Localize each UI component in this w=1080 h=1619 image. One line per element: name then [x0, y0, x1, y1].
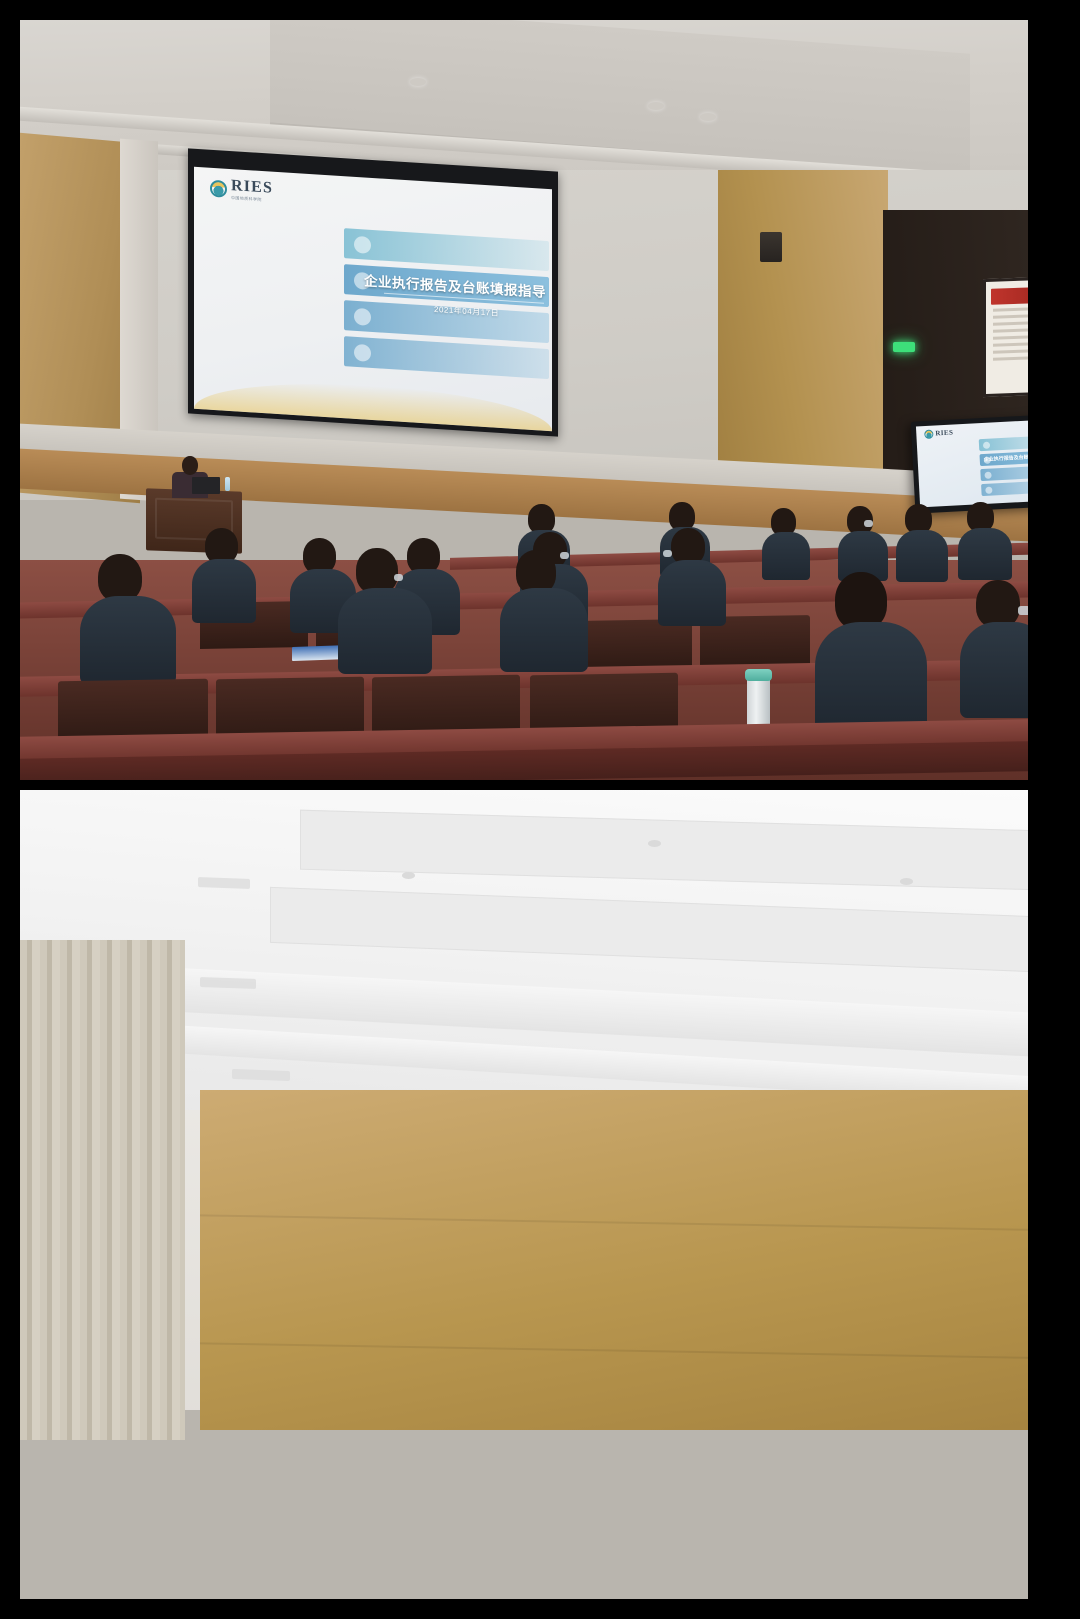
face-mask	[1018, 606, 1028, 615]
side-monitor: RIES 企业执行报告及台账填报指导	[911, 414, 1028, 513]
bullet-dot-icon	[983, 441, 990, 448]
poster-line	[993, 328, 1028, 332]
wall-poster	[983, 277, 1028, 397]
ceiling-vent	[232, 1069, 290, 1081]
wall-speaker-icon	[760, 232, 782, 262]
ceiling-vent	[200, 977, 256, 989]
monitor-bar	[979, 435, 1028, 451]
ceiling-downlight-icon	[900, 878, 913, 885]
ceiling-downlight-icon	[700, 113, 716, 121]
bullet-dot-icon	[984, 471, 991, 478]
face-mask	[663, 550, 672, 557]
bullet-dot-icon	[354, 343, 371, 361]
monitor-logo-text: RIES	[935, 430, 953, 438]
ceiling-downlight-icon	[410, 78, 426, 86]
poster-line	[993, 342, 1028, 346]
presenter-laptop	[192, 477, 220, 494]
logo-text: RIES	[231, 177, 273, 197]
slide-bar	[344, 336, 549, 379]
ceiling	[20, 20, 1028, 190]
poster-line	[993, 356, 1028, 360]
poster-line	[993, 321, 1028, 325]
projection-screen: RIES 中国地质科学院 企业执行报告及台账填报指导 2021年04月17日	[194, 167, 552, 432]
monitor-decoration-bars	[979, 435, 1028, 499]
poster-header	[991, 287, 1028, 305]
bullet-dot-icon	[354, 235, 371, 253]
ceiling-vent	[198, 877, 250, 889]
photo-composite-frame: RIES 中国地质科学院 企业执行报告及台账填报指导 2021年04月17日	[0, 0, 1080, 1619]
monitor-slide-logo: RIES	[924, 429, 953, 440]
ries-logo-icon	[210, 179, 227, 197]
slide-bar	[344, 228, 549, 271]
wood-panel-right	[718, 170, 888, 510]
bullet-dot-icon	[985, 486, 992, 493]
poster-line	[993, 335, 1028, 339]
ceiling-downlight-icon	[648, 102, 664, 110]
photo-top-conference-hall-wide: RIES 中国地质科学院 企业执行报告及台账填报指导 2021年04月17日	[20, 20, 1028, 780]
projection-screen-frame: RIES 中国地质科学院 企业执行报告及台账填报指导 2021年04月17日	[188, 148, 558, 436]
face-mask	[864, 520, 873, 527]
ceiling-downlight-icon	[402, 872, 415, 879]
thermos-lid	[745, 669, 772, 681]
water-bottle	[225, 477, 230, 491]
poster-line	[993, 307, 1028, 311]
chair-back	[580, 619, 692, 671]
poster-line	[993, 314, 1028, 318]
poster-line	[993, 349, 1028, 353]
wood-wall-panel	[200, 1090, 1028, 1430]
slide-logo: RIES 中国地质科学院	[210, 176, 273, 204]
exit-sign-icon	[893, 342, 915, 352]
window-curtain	[20, 940, 185, 1440]
ries-logo-icon	[924, 430, 933, 439]
face-mask	[560, 552, 569, 559]
monitor-bar	[980, 465, 1028, 481]
photo-bottom-slide-closeup: 大力发扬三牛精神 全力答好 RIES 中国地质科学院 一案三制 ①应急预案 点无…	[20, 790, 1028, 1599]
presenter-head	[182, 456, 198, 475]
bullet-dot-icon	[354, 307, 371, 325]
ceiling-downlight-icon	[648, 840, 661, 847]
side-monitor-screen: RIES 企业执行报告及台账填报指导	[916, 420, 1028, 508]
face-mask	[394, 574, 403, 581]
monitor-bar	[981, 480, 1028, 496]
